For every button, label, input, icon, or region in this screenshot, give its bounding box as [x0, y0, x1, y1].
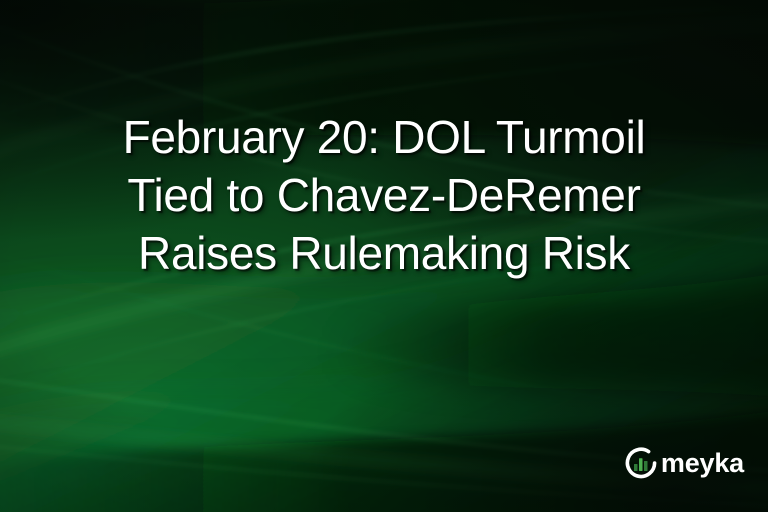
social-card: February 20: DOL Turmoil Tied to Chavez-… [0, 0, 768, 512]
page-title: February 20: DOL Turmoil Tied to Chavez-… [0, 108, 768, 282]
logo-bar-1 [634, 464, 638, 471]
meyka-bar-chart-ring-icon [624, 446, 658, 480]
title-line-1: February 20: DOL Turmoil [44, 108, 724, 166]
logo-wordmark: meyka [661, 450, 744, 477]
title-line-2: Tied to Chavez-DeRemer [44, 166, 724, 224]
logo-bar-2 [639, 458, 643, 471]
logo-bar-3 [644, 461, 648, 471]
meyka-logo: meyka [624, 446, 744, 480]
title-line-3: Raises Rulemaking Risk [44, 224, 724, 282]
